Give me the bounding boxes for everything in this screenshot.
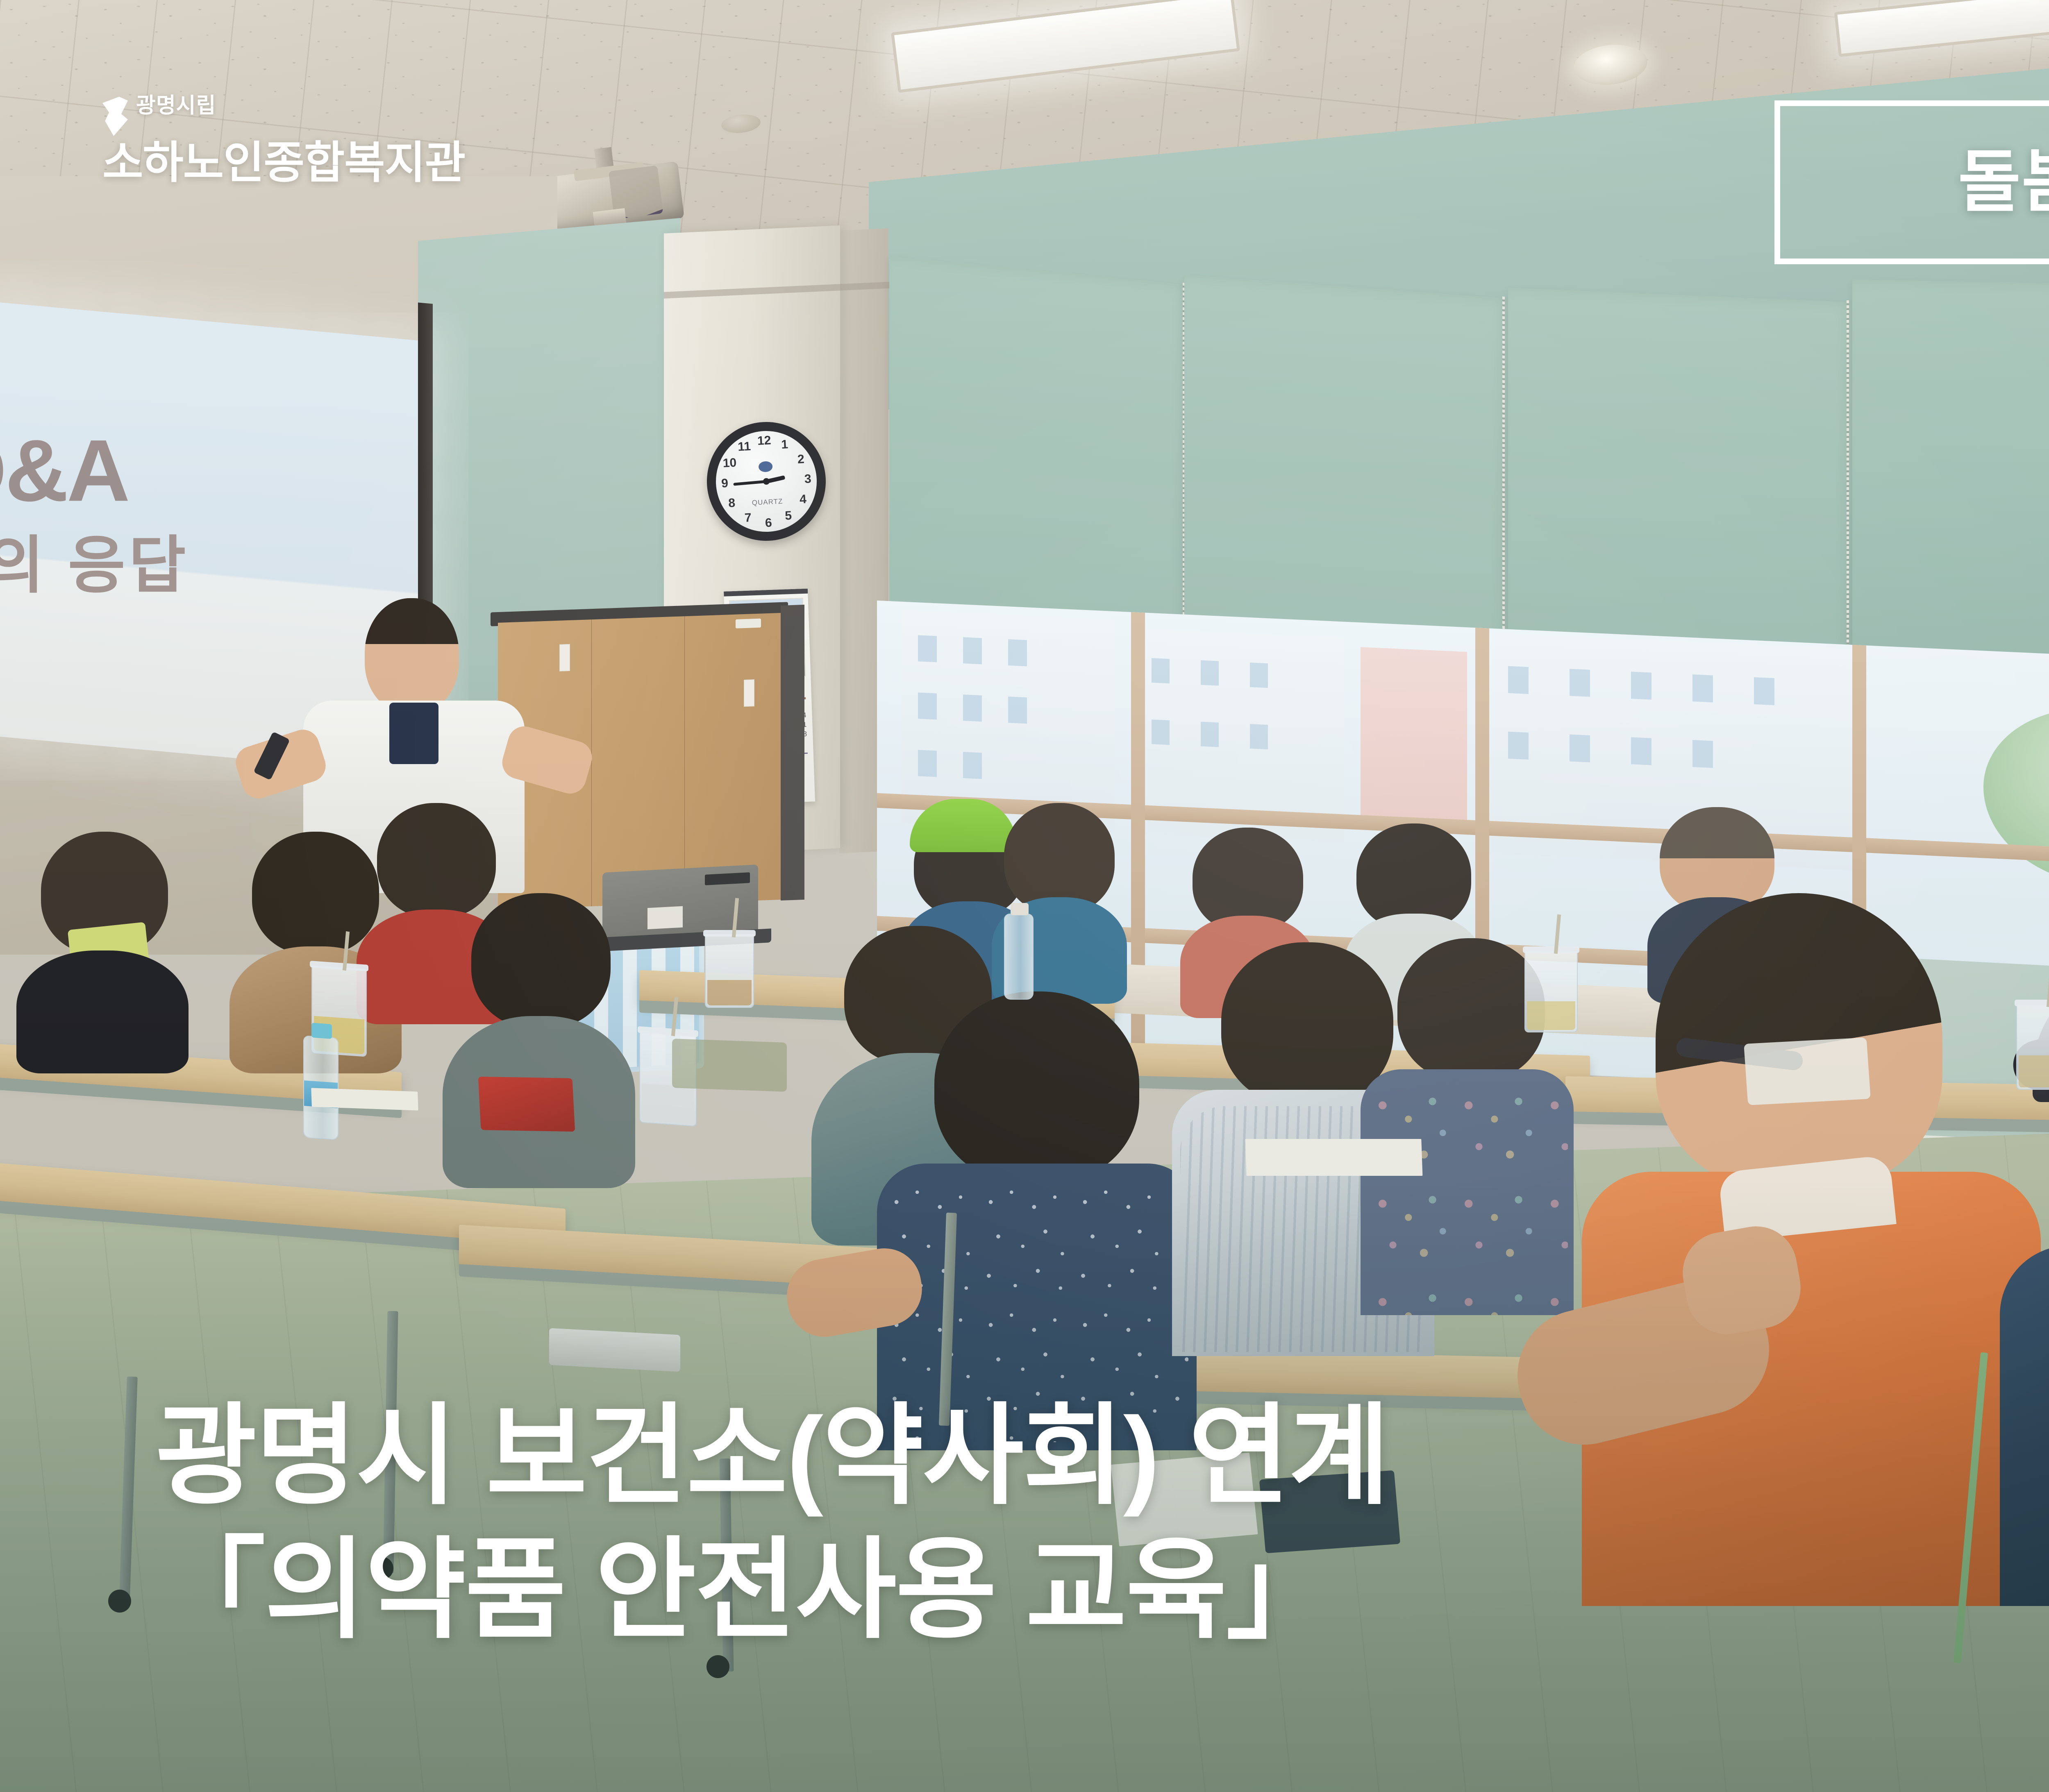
head <box>934 991 1139 1184</box>
paper-slip <box>311 1088 418 1110</box>
head <box>1397 938 1545 1082</box>
cabinet-door-seam <box>591 619 592 906</box>
cup-liquid <box>707 980 752 1005</box>
slide-subheading: 질의 응답 <box>0 515 238 605</box>
audience-member <box>877 991 1197 1442</box>
cup-liquid <box>642 1084 694 1124</box>
department-badge: 돌봄연계과 <box>1774 100 2049 264</box>
cup-liquid <box>1527 1001 1575 1030</box>
pink-building <box>1361 647 1467 824</box>
floral-pattern <box>1367 1086 1568 1315</box>
organization-logo: 광명시립 소하노인종합복지관 <box>102 95 465 186</box>
tissue-pack <box>549 1328 680 1372</box>
table-caster <box>706 1655 729 1678</box>
wall-clock: 12 1 2 3 4 5 6 7 8 9 10 11 QUARTZ <box>704 419 829 544</box>
snack-pack <box>672 1039 787 1092</box>
iced-drink-cup <box>2016 1004 2049 1090</box>
presenter-head <box>365 598 459 713</box>
cup-lid <box>2015 1000 2049 1006</box>
bottle-cap <box>311 1023 332 1039</box>
department-badge-label: 돌봄연계과 <box>1958 148 2049 216</box>
iced-drink-cup <box>705 934 754 1008</box>
leaf-flame-mark-icon <box>102 97 128 136</box>
audience-member <box>16 832 189 1061</box>
water-bottle <box>303 1035 338 1140</box>
title-line-2: 「의약품 안전사용 교육」 <box>156 1523 2049 1657</box>
cabinet-side <box>781 605 804 901</box>
cabinet-label <box>744 679 754 707</box>
main-title: 광명시 보건소(약사회) 연계 「의약품 안전사용 교육」 <box>156 1389 2049 1657</box>
presenter-inner-shirt <box>389 703 438 764</box>
iced-drink-cup <box>1524 950 1578 1032</box>
audience-member <box>443 893 635 1180</box>
phone-case <box>478 1077 575 1132</box>
poster-root: 12 1 2 3 4 5 6 7 8 9 10 11 QUARTZ 6 <box>0 0 2049 1792</box>
cabinet-lock <box>736 619 761 628</box>
bottle-cap <box>1011 903 1029 915</box>
laptop-sticker <box>647 906 683 930</box>
cup-liquid <box>2019 1055 2049 1087</box>
cup-lid <box>703 930 756 937</box>
torso <box>16 950 189 1073</box>
paper-handout <box>1245 1139 1423 1176</box>
tissue-pack <box>1744 1037 1871 1105</box>
cup-lid <box>1523 946 1579 953</box>
table-caster <box>108 1590 131 1613</box>
water-bottle <box>1004 914 1034 1000</box>
cabinet-door-seam <box>684 616 685 903</box>
logo-main-label: 소하노인종합복지관 <box>102 139 465 186</box>
logo-sub-label: 광명시립 <box>136 95 216 116</box>
tree <box>1983 704 2049 890</box>
title-line-1: 광명시 보건소(약사회) 연계 <box>156 1389 2049 1523</box>
head <box>471 893 611 1028</box>
cabinet-label <box>559 644 570 671</box>
slide-heading: Q&A <box>0 420 225 521</box>
